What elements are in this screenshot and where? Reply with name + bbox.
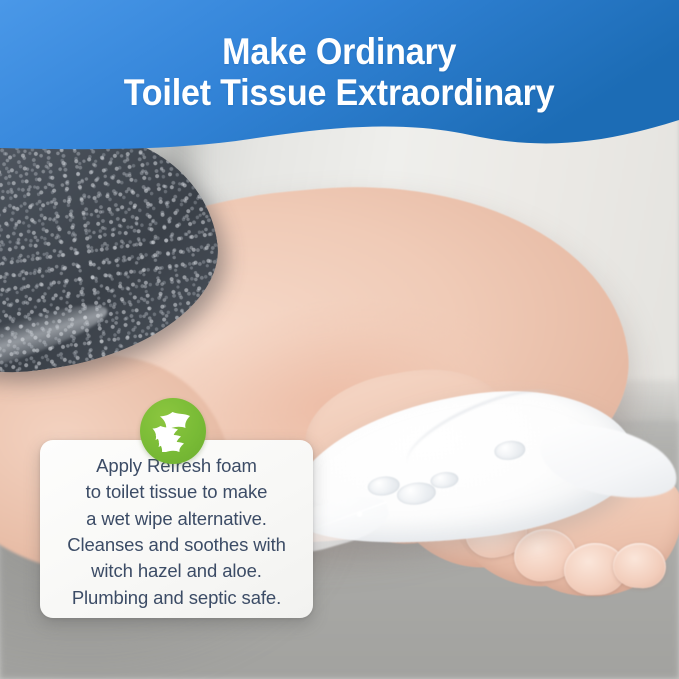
product-info-card: Apply Refresh foam to toilet tissue to m… [40,440,313,618]
header-banner: Make Ordinary Toilet Tissue Extraordinar… [0,0,679,175]
banner-wave-shape [0,0,679,175]
product-info-text: Apply Refresh foam to toilet tissue to m… [57,447,296,611]
foam-bubble [367,475,400,497]
tissue-stack-glyph [151,410,195,452]
foam-tail [534,419,679,506]
product-feature-image: Make Ordinary Toilet Tissue Extraordinar… [0,0,679,679]
stacked-tissue-sheets-icon [140,398,206,464]
